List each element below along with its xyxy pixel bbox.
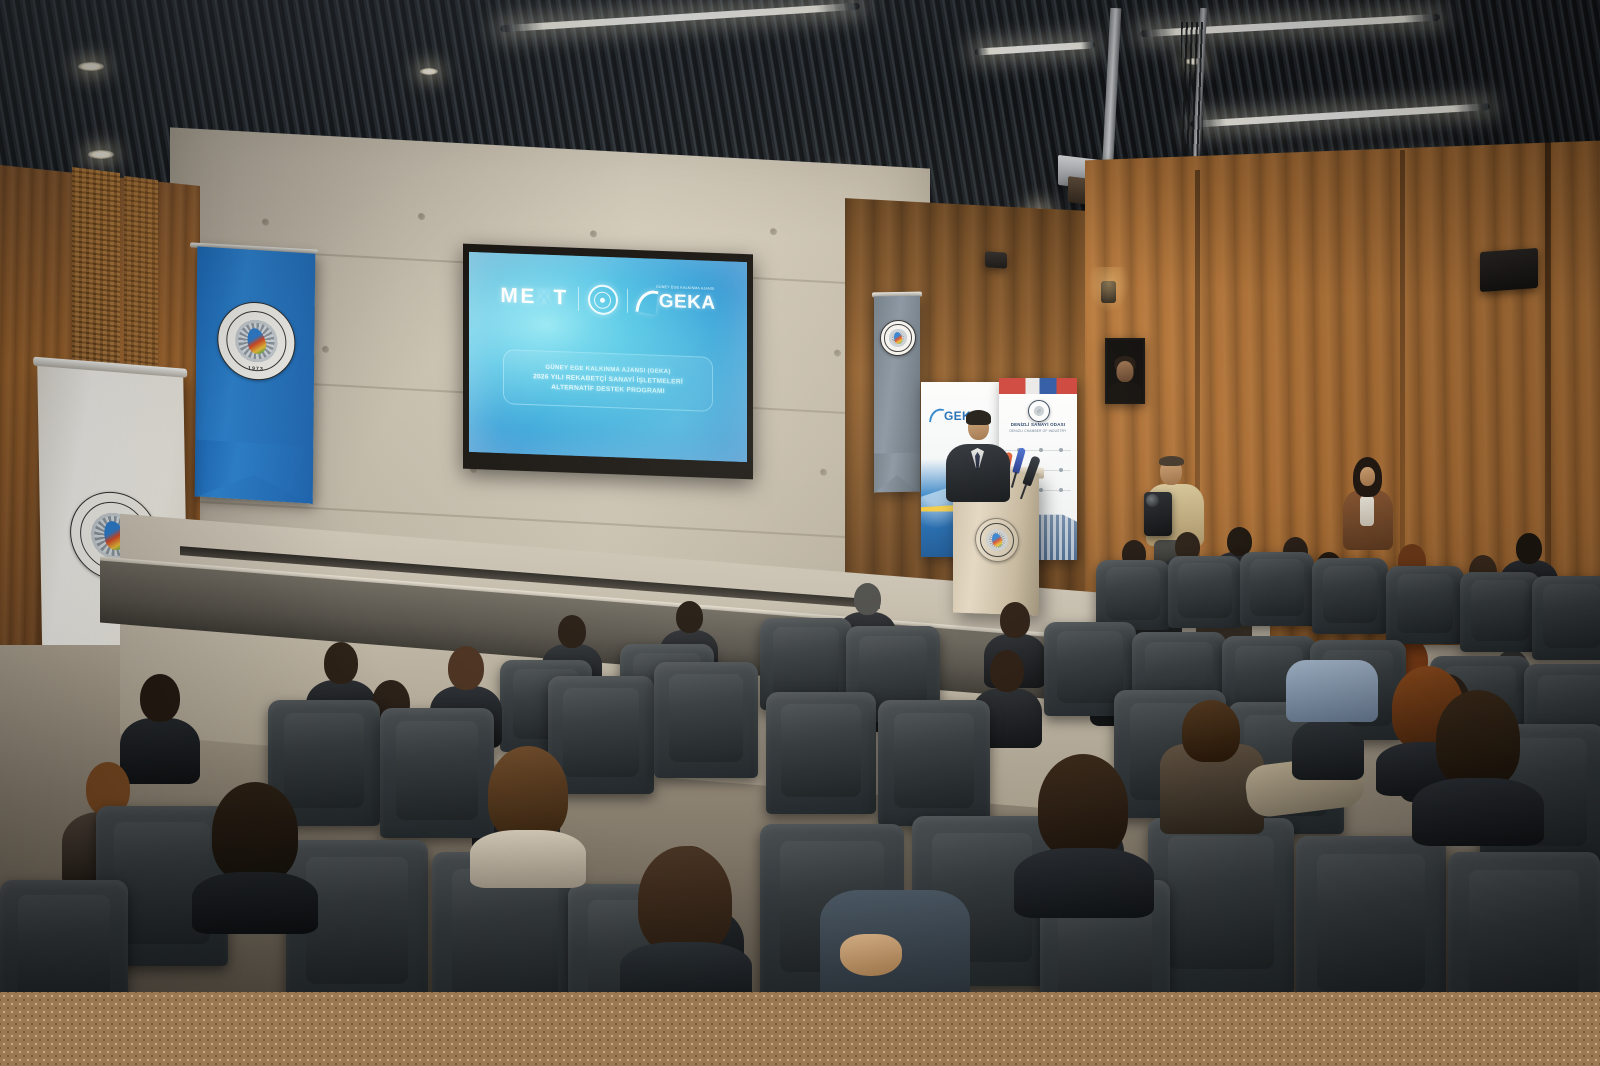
audience-hand: [840, 934, 902, 976]
geka-tagline: GÜNEY EGE KALKINMA AJANSI: [656, 285, 715, 291]
geka-swoosh-icon: [929, 407, 944, 424]
attendee-face: [1360, 467, 1375, 486]
auditorium-seat: [1460, 572, 1540, 652]
attendee-top: [1360, 496, 1374, 526]
audience-person: [820, 860, 970, 992]
audience-person: [1286, 640, 1378, 720]
lectern-emblem: [975, 517, 1017, 560]
audience-person: [196, 782, 314, 924]
denizli-sanayi-odasi-emblem: [880, 320, 916, 357]
wall-speaker-right: [985, 251, 1007, 269]
auditorium-seat: [1168, 556, 1242, 628]
slide-title-line-1: GÜNEY EGE KALKINMA AJANSI (GEKA): [512, 361, 704, 378]
logo-divider: [578, 287, 579, 311]
auditorium-seat: [1296, 836, 1446, 992]
audience-person: [620, 846, 752, 992]
photographer-hair: [1159, 456, 1184, 466]
framed-portrait: [1105, 338, 1145, 404]
auditorium-seat: [766, 692, 876, 814]
audience-person: [1020, 754, 1146, 904]
wall-speaker-right: [1480, 248, 1538, 292]
slide-title-line-3: ALTERNATİF DESTEK PROGRAMI: [512, 381, 704, 398]
geka-swoosh-icon: [635, 288, 658, 315]
projector-cables: [1181, 22, 1203, 172]
auditorium-seat: [1096, 560, 1170, 630]
denizli-sanayi-odasi-emblem: [1028, 400, 1050, 422]
screenshot-root: MEXT GÜNEY EGE KALKINMA AJANSI GEKA: [0, 0, 1600, 1066]
audience-person: [474, 746, 582, 874]
auditorium-seat: [0, 880, 128, 992]
hanging-banner-left: 1973: [195, 246, 316, 503]
geka-wordmark: GEKA: [659, 291, 716, 315]
wall-sconce-right: [1101, 281, 1116, 303]
audience-person: [1246, 716, 1364, 842]
hanging-banner-right: [874, 296, 920, 493]
ceiling-spotlight: [420, 68, 438, 75]
slide-title-box: GÜNEY EGE KALKINMA AJANSI (GEKA) 2026 YI…: [503, 349, 713, 412]
ceiling-spotlight: [88, 150, 114, 159]
logo-divider: [627, 289, 628, 313]
denizli-sanayi-odasi-emblem: 1973: [217, 300, 296, 383]
speaker-person: [944, 408, 1012, 488]
projection-screen-frame: MEXT GÜNEY EGE KALKINMA AJANSI GEKA: [463, 244, 753, 480]
projection-screen: MEXT GÜNEY EGE KALKINMA AJANSI GEKA: [469, 252, 747, 462]
bottom-border-band: [0, 992, 1600, 1066]
auditorium-seat: [1312, 558, 1388, 634]
camera-lens-icon: [1146, 494, 1159, 507]
auditorium-seat: [1532, 576, 1600, 660]
mext-logo: MEXT: [500, 284, 568, 311]
circular-seal-icon: [588, 284, 618, 315]
auditorium-seat: [1240, 552, 1314, 626]
audience-person: [1418, 690, 1538, 838]
auditorium-seat: [1386, 566, 1464, 644]
auditorium-seat: [1448, 852, 1600, 992]
slide-title-line-2: 2026 YILI REKABETÇİ SANAYİ İŞLETMELERİ: [512, 371, 704, 388]
emblem-year: 1973: [248, 366, 264, 373]
ceiling-spotlight: [78, 62, 104, 71]
speaker-hair: [966, 410, 991, 425]
auditorium-seat: [654, 662, 758, 778]
auditorium-seat: [878, 700, 990, 826]
geka-logo: GÜNEY EGE KALKINMA AJANSI GEKA: [637, 289, 716, 316]
slide-logo-row: MEXT GÜNEY EGE KALKINMA AJANSI GEKA: [469, 280, 747, 320]
conference-photo: MEXT GÜNEY EGE KALKINMA AJANSI GEKA: [0, 0, 1600, 992]
